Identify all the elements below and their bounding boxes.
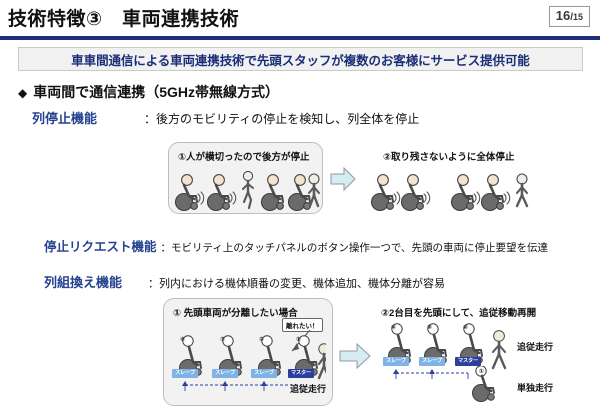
feature-separator-regroup: ： bbox=[148, 275, 159, 291]
feature-name-stop-request: 停止リクエスト機能 bbox=[44, 236, 157, 255]
vehicle-seq-b2-2: ② bbox=[463, 324, 468, 331]
stop-step2-illustration bbox=[362, 166, 538, 212]
flow-arrow-regroup bbox=[339, 342, 371, 370]
panel-stop-step1-caption: ①人が横切ったので後方が停止 bbox=[178, 149, 310, 163]
header-divider bbox=[0, 36, 600, 40]
run-label-b2-follow: 追従走行 bbox=[517, 340, 553, 353]
feature-name-stop: 列停止機能 bbox=[32, 108, 144, 127]
vehicle-seq-b1-3: ③ bbox=[220, 336, 225, 343]
feature-row-stop-request: 停止リクエスト機能 ： モビリティ上のタッチパネルのボタン操作一つで、先頭の車両… bbox=[44, 236, 548, 255]
run-label-b2-solo: 単独走行 bbox=[517, 381, 553, 394]
page-number-current: 16 bbox=[556, 8, 570, 23]
run-label-b1-follow: 追従走行 bbox=[290, 382, 326, 395]
page-number-badge: 16/15 bbox=[549, 6, 590, 27]
stop-step1-illustration bbox=[170, 166, 322, 212]
summary-banner: 車車間通信による車両連携技術で先頭スタッフが複数のお客様にサービス提供可能 bbox=[18, 47, 583, 71]
panel-regroup-step1-caption: ① 先頭車両が分離したい場合 bbox=[173, 305, 298, 319]
vehicle-seq-b2-3: ③ bbox=[427, 324, 432, 331]
detached-vehicle-b2 bbox=[468, 366, 512, 406]
role-tag-b2-slave-4: スレーブ bbox=[383, 357, 409, 366]
feature-desc-stop: 後方のモビリティの停止を検知し、列全体を停止 bbox=[156, 110, 419, 127]
role-tag-b1-slave-2: スレーブ bbox=[251, 369, 277, 378]
feature-separator-stop-request: ： bbox=[161, 240, 172, 255]
summary-banner-text: 車車間通信による車両連携技術で先頭スタッフが複数のお客様にサービス提供可能 bbox=[71, 50, 529, 69]
role-tag-b1-slave-3: スレーブ bbox=[212, 369, 238, 378]
vehicle-seq-b1-4: ④ bbox=[180, 336, 185, 343]
feature-name-regroup: 列組換え機能 bbox=[44, 272, 148, 291]
panel-regroup-step2-caption: ②2台目を先頭にして、追従移動再開 bbox=[381, 305, 536, 319]
vehicle-seq-b2-4: ④ bbox=[391, 324, 396, 331]
vehicle-seq-b1-2: ② bbox=[259, 336, 264, 343]
role-tag-b1-slave-4: スレーブ bbox=[172, 369, 198, 378]
feature-desc-stop-request: モビリティ上のタッチパネルのボタン操作一つで、先頭の車両に停止要望を伝達 bbox=[171, 240, 548, 255]
role-tag-b2-master-2: マスター bbox=[455, 357, 481, 366]
role-tag-b2-slave-3: スレーブ bbox=[419, 357, 445, 366]
flow-arrow-stop bbox=[330, 166, 356, 192]
feature-row-regroup: 列組換え機能 ： 列内における機体順番の変更、機体追加、機体分離が容易 bbox=[44, 272, 445, 291]
panel-stop-step2-caption: ②取り残さないように全体停止 bbox=[383, 149, 514, 163]
vehicle-seq-b2-detached: ① bbox=[479, 368, 484, 375]
feature-desc-regroup: 列内における機体順番の変更、機体追加、機体分離が容易 bbox=[159, 275, 445, 291]
role-tag-b1-master-1: マスター bbox=[288, 369, 314, 378]
feature-separator-stop: ： bbox=[144, 110, 156, 127]
page-number-total: 15 bbox=[573, 12, 583, 22]
page-title: 技術特徴③ 車両連携技術 bbox=[8, 4, 239, 31]
vehicle-seq-b1-1: ① bbox=[296, 336, 301, 343]
section-heading-label: 車両間で通信連携（5GHz帯無線方式） bbox=[33, 84, 279, 100]
comm-link-b2 bbox=[383, 367, 475, 381]
diamond-bullet-icon: ◆ bbox=[18, 86, 27, 100]
section-heading: ◆車両間で通信連携（5GHz帯無線方式） bbox=[18, 82, 279, 102]
feature-row-stop: 列停止機能 ： 後方のモビリティの停止を検知し、列全体を停止 bbox=[32, 108, 419, 127]
